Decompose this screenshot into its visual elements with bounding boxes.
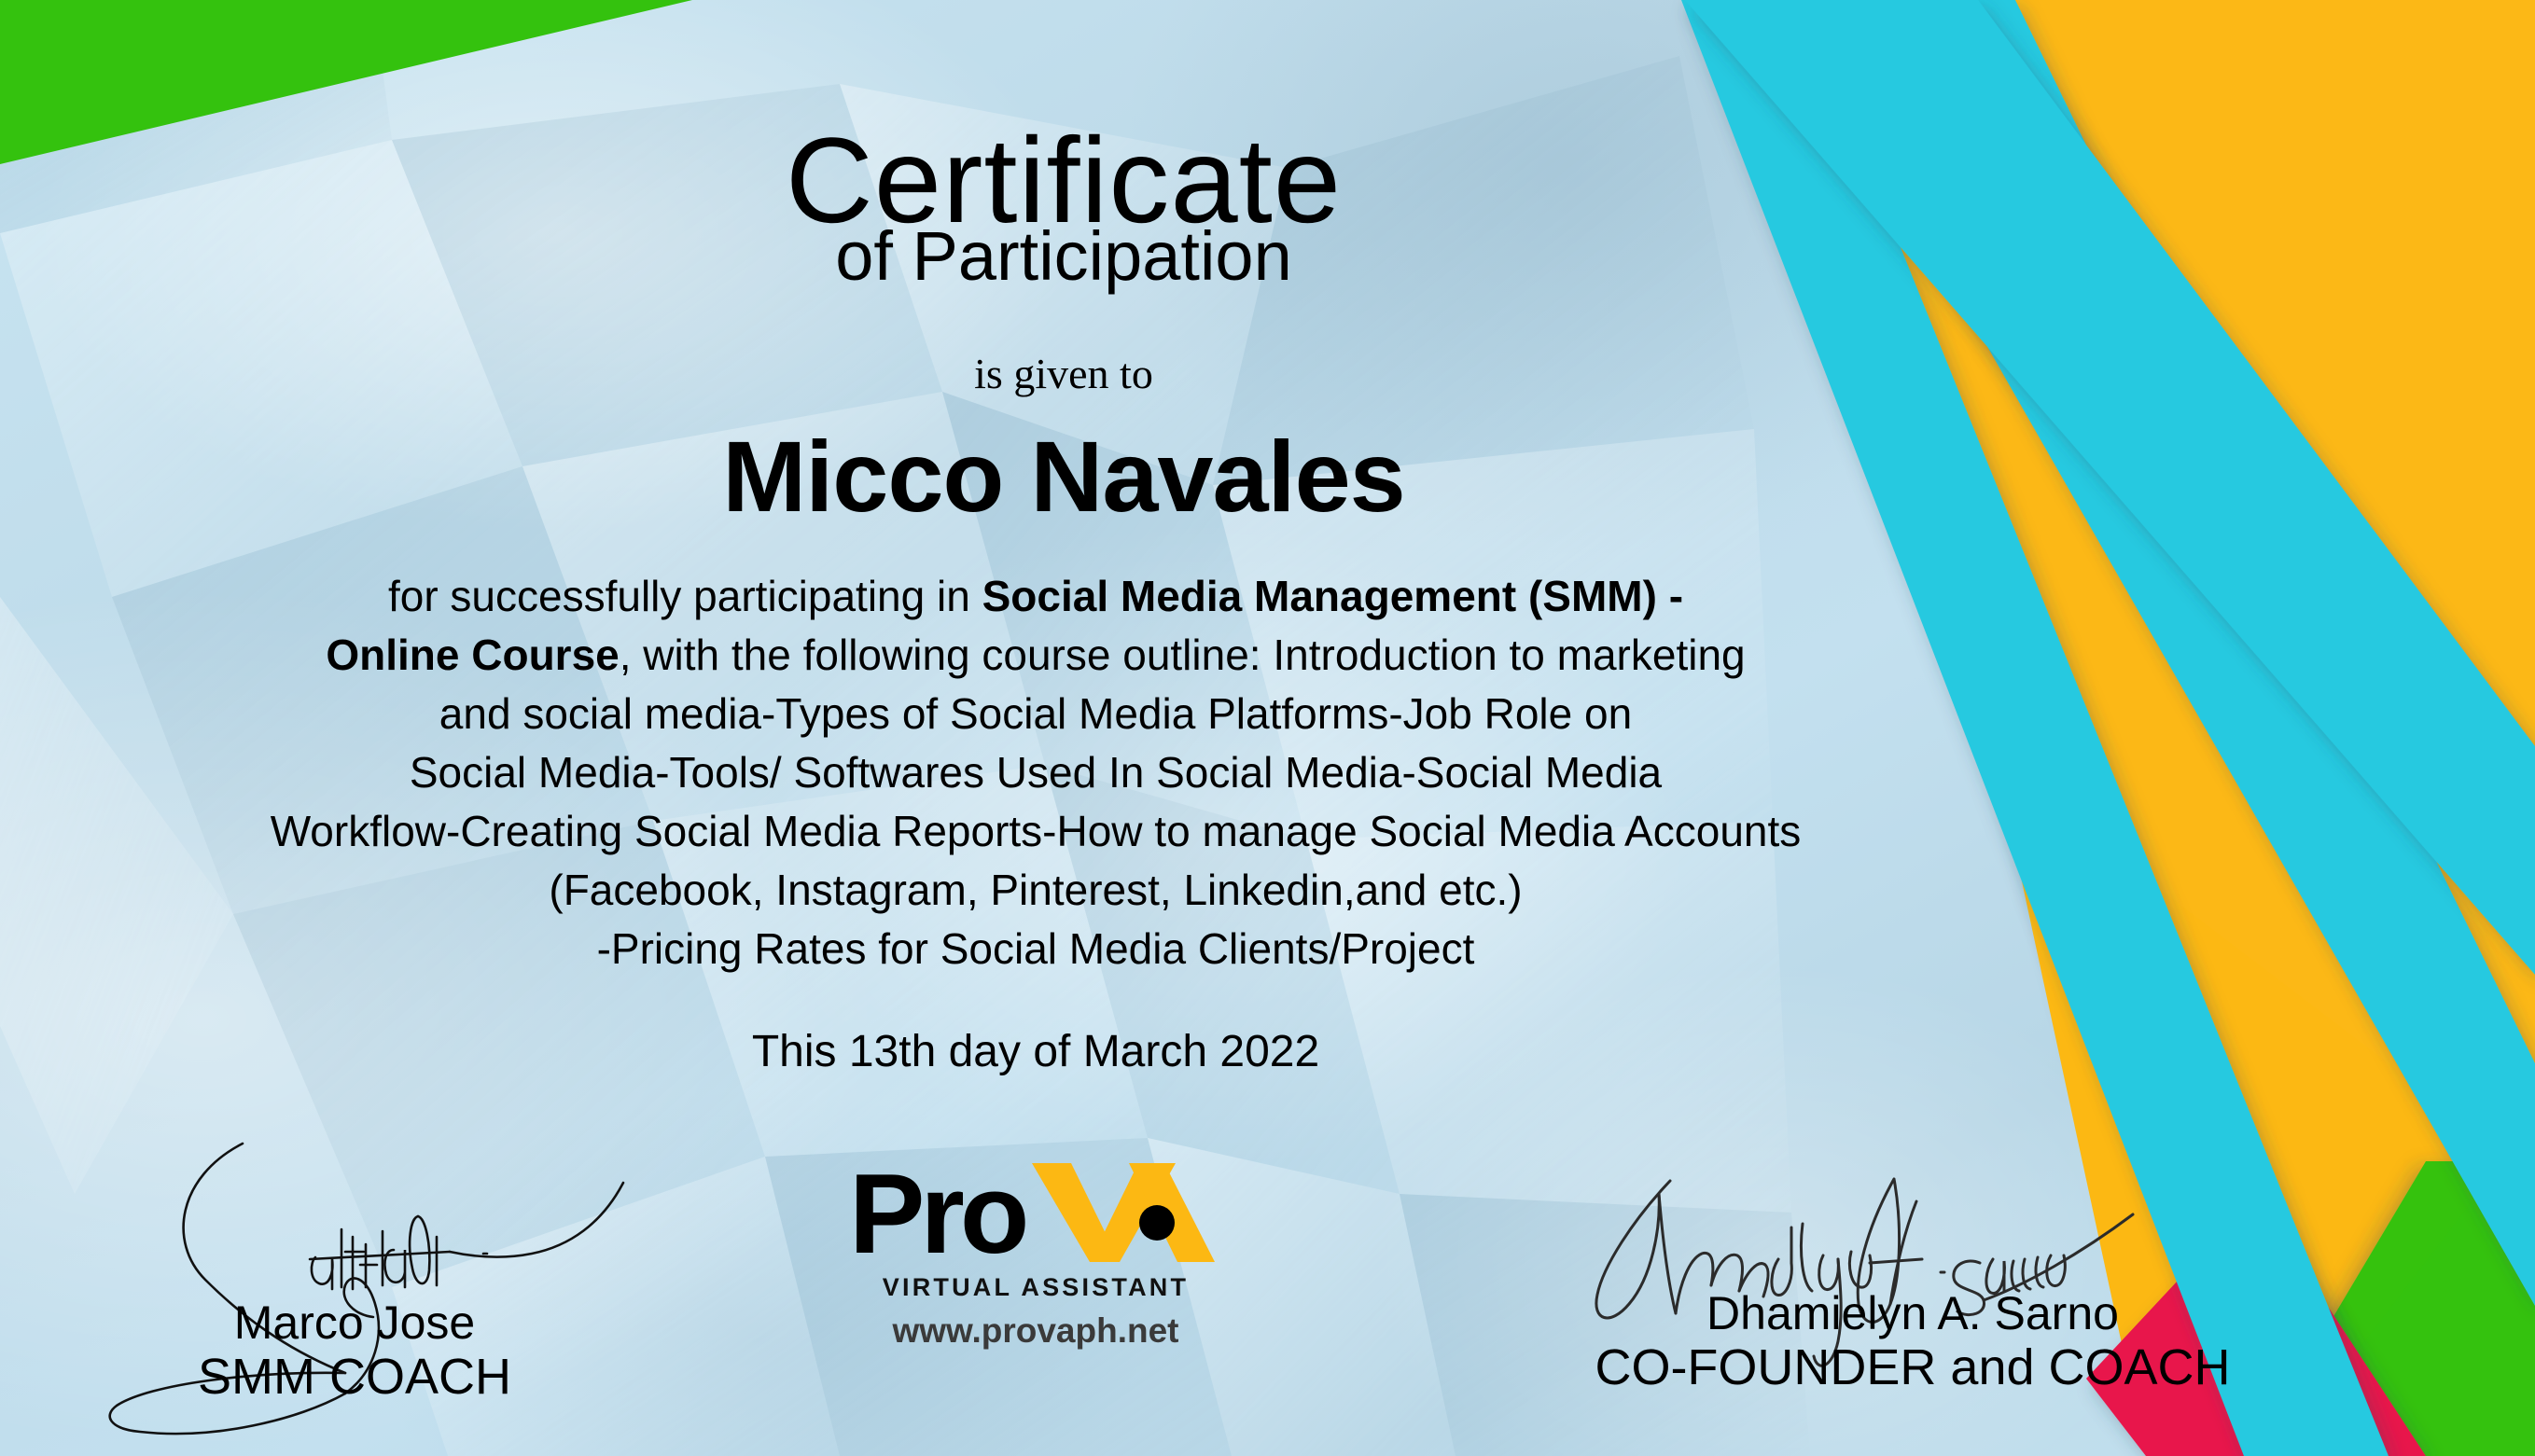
prova-logo: Pro VIRTUAL ASSISTANT www.provaph.net (840, 1161, 1232, 1348)
signatory-role: SMM COACH (65, 1349, 644, 1405)
body-line-4: Social Media-Tools/ Softwares Used In So… (410, 748, 1662, 797)
body-line-6: (Facebook, Instagram, Pinterest, Linkedi… (549, 866, 1522, 914)
body-line-7: -Pricing Rates for Social Media Clients/… (597, 924, 1475, 973)
signatory-role: CO-FOUNDER and COACH (1493, 1339, 2333, 1395)
signatory-name: Marco Jose (65, 1297, 644, 1349)
signatory-name: Dhamielyn A. Sarno (1493, 1287, 2333, 1339)
body-line-2-course-mode: Online Course (326, 631, 619, 679)
signature-block-right: Dhamielyn A. Sarno CO-FOUNDER and COACH (1493, 1173, 2333, 1395)
body-line-2-suffix: , with the following course outline: Int… (620, 631, 1746, 679)
certificate-canvas: Certificate of Participation is given to… (0, 0, 2535, 1456)
body-line-5: Workflow-Creating Social Media Reports-H… (271, 807, 1802, 855)
page-subtitle: of Participation (0, 222, 2127, 291)
svg-text:Pro: Pro (849, 1161, 1025, 1273)
prova-wordmark-icon: Pro (849, 1161, 1222, 1273)
body-line-1-prefix: for successfully participating in (388, 572, 982, 620)
logo-tagline: VIRTUAL ASSISTANT (840, 1275, 1232, 1300)
signature-block-left: Marco Jose SMM COACH (65, 1147, 644, 1405)
course-description: for successfully participating in Social… (19, 567, 2053, 978)
certificate-content: Certificate of Participation is given to… (0, 0, 2535, 1456)
issue-date: This 13th day of March 2022 (19, 1026, 2053, 1077)
body-line-3: and social media-Types of Social Media P… (439, 689, 1632, 738)
body-line-1-course-name: Social Media Management (SMM) - (982, 572, 1683, 620)
logo-website-url[interactable]: www.provaph.net (840, 1313, 1232, 1348)
recipient-name: Micco Navales (0, 422, 2127, 533)
given-to-label: is given to (0, 353, 2127, 395)
